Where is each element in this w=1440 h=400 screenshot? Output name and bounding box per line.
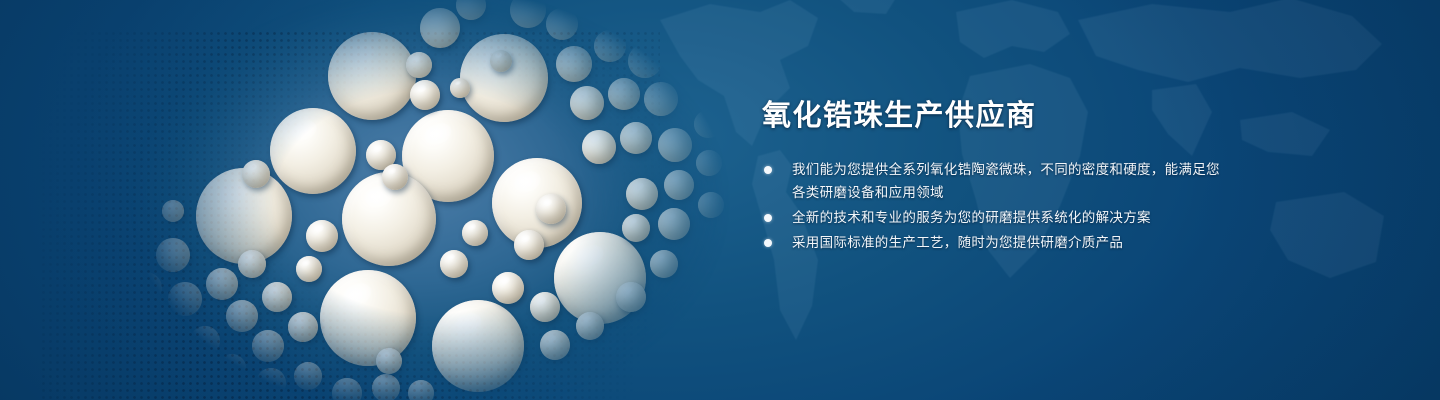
vignette-overlay	[0, 0, 1440, 400]
product-hero-banner: 氧化锆珠生产供应商 我们能为您提供全系列氧化锆陶瓷微珠，不同的密度和硬度，能满足…	[0, 0, 1440, 400]
